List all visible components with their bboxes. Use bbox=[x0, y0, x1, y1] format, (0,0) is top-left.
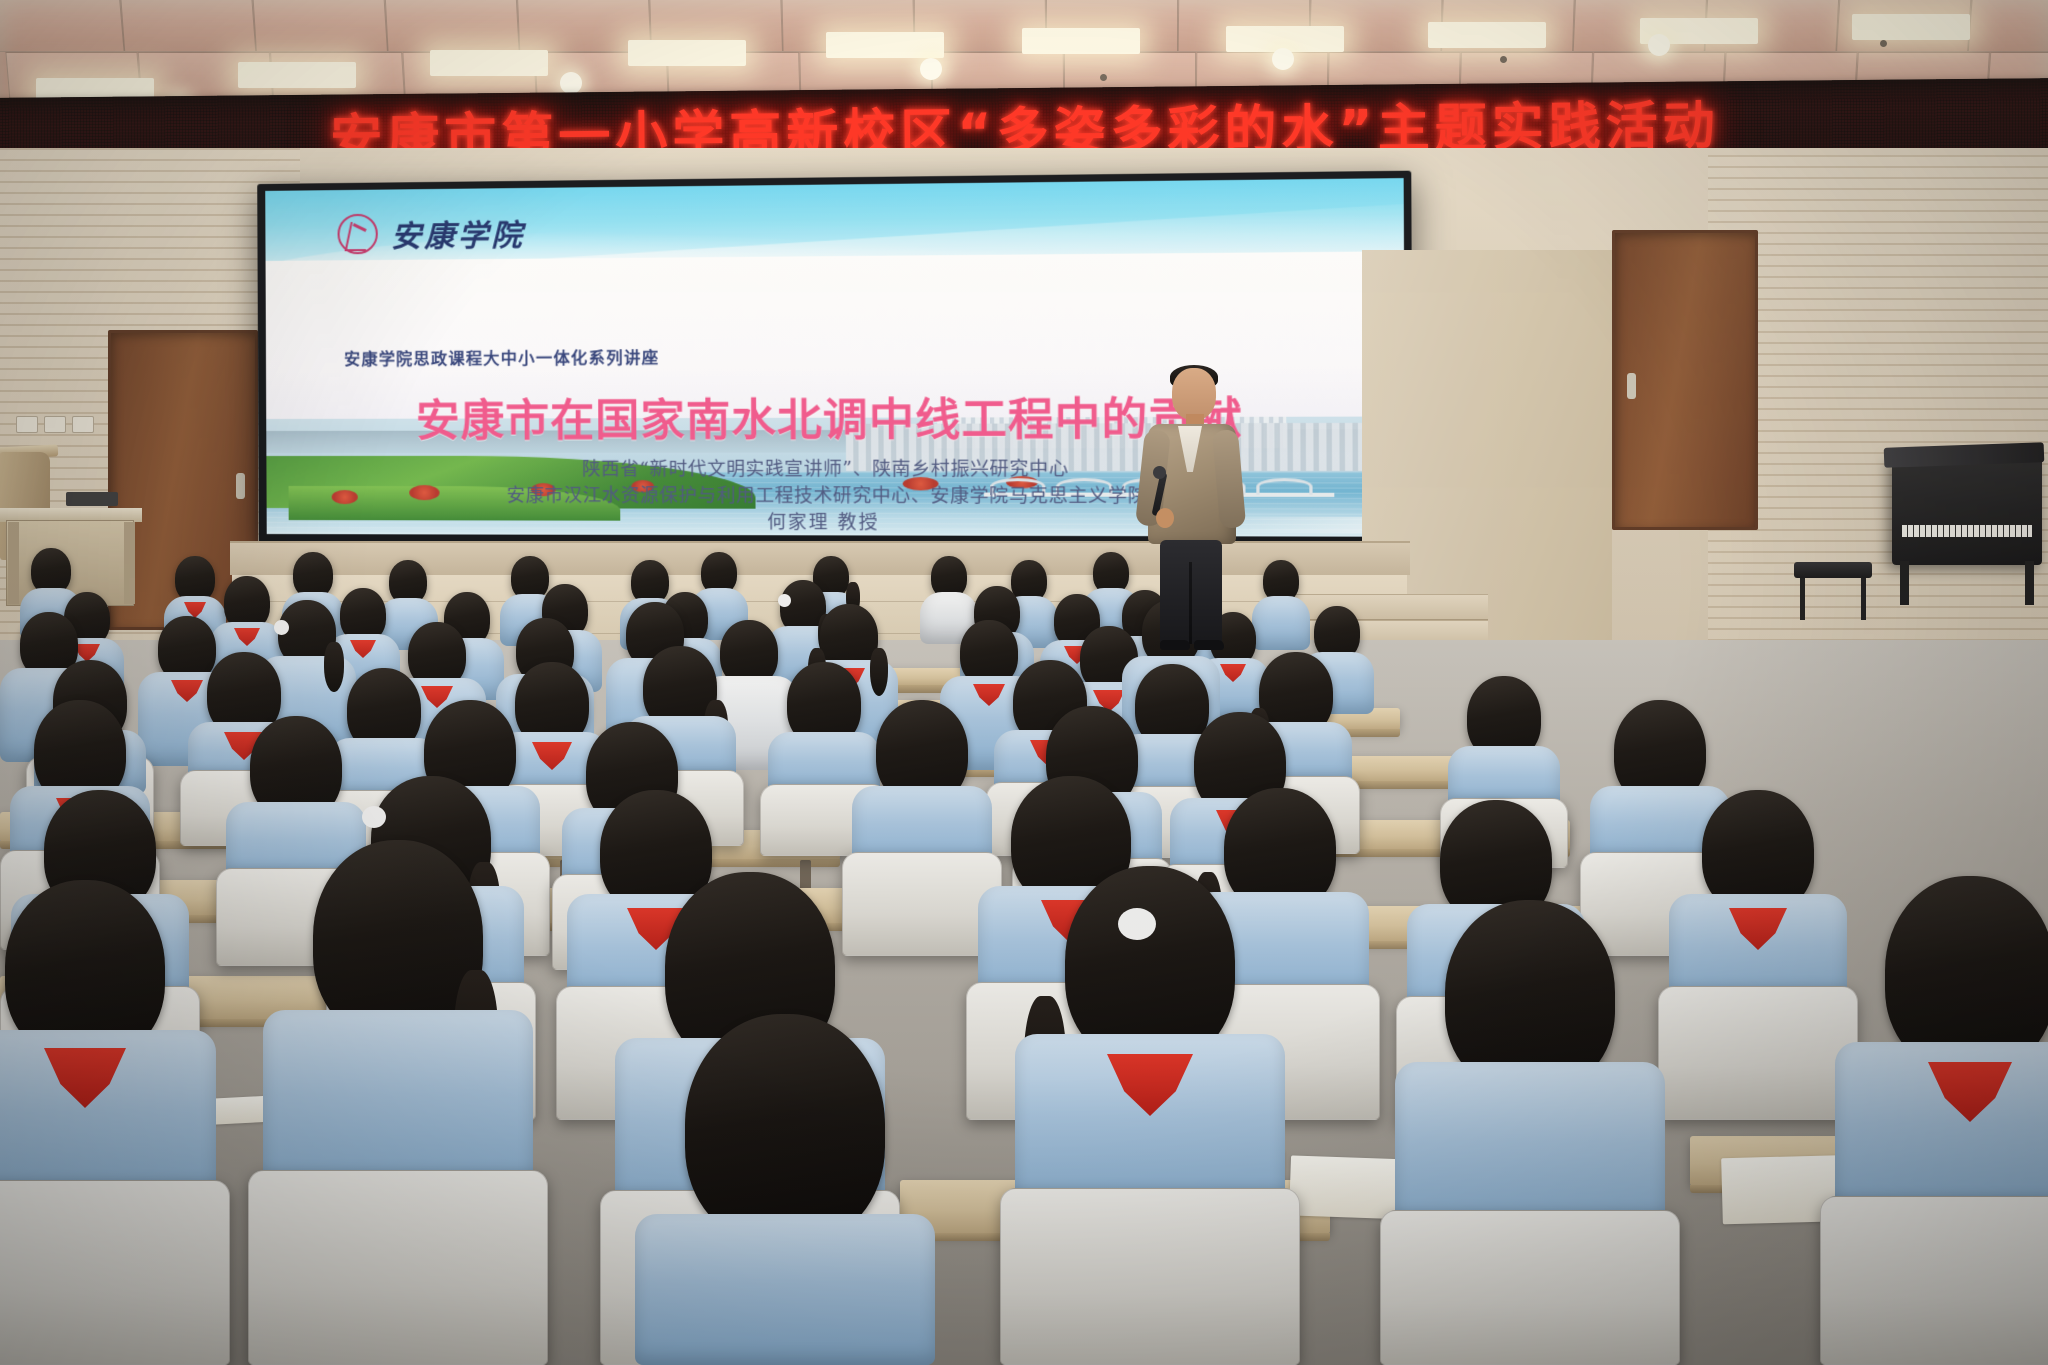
piano-bench[interactable] bbox=[1794, 562, 1872, 578]
lecture-hall-photo: 安康市第一小学高新校区“多姿多彩的水”主题实践活动 安康学院 安康学院思政课程大… bbox=[0, 0, 2048, 1365]
ceiling-light bbox=[1852, 14, 1970, 40]
ceiling-light bbox=[628, 40, 746, 66]
speaker-trousers bbox=[1160, 540, 1222, 644]
door-right[interactable] bbox=[1612, 230, 1758, 530]
microphone-head-icon bbox=[1153, 466, 1166, 479]
student-r7-1 bbox=[0, 880, 230, 1365]
sprinkler-head bbox=[1880, 40, 1887, 47]
ceiling-downlight bbox=[560, 72, 582, 94]
ankang-logo-icon bbox=[337, 214, 377, 255]
student-r7-6 bbox=[1380, 900, 1680, 1365]
ceiling-downlight bbox=[920, 58, 942, 80]
logo-text: 安康学院 bbox=[391, 210, 525, 256]
ceiling-tile bbox=[252, 0, 388, 52]
speaker-head bbox=[1172, 368, 1216, 420]
ceiling-light bbox=[826, 32, 944, 58]
piano-keys[interactable] bbox=[1902, 525, 2032, 537]
student-r7-2 bbox=[248, 840, 548, 1365]
slide-series-line: 安康学院思政课程大中小一体化系列讲座 bbox=[344, 344, 659, 370]
av-control-box[interactable] bbox=[66, 492, 118, 506]
sprinkler-head bbox=[1500, 56, 1507, 63]
piano[interactable] bbox=[1892, 455, 2042, 565]
ceiling-light bbox=[430, 50, 548, 76]
ceiling-light bbox=[238, 62, 356, 88]
student-r7-5 bbox=[1000, 866, 1300, 1365]
university-logo: 安康学院 bbox=[337, 210, 524, 256]
wall-slats-right bbox=[1708, 155, 2048, 675]
student-r7-7 bbox=[1820, 876, 2048, 1365]
ceiling-downlight bbox=[1648, 34, 1670, 56]
sprinkler-head bbox=[1100, 74, 1107, 81]
wall-switch-3[interactable] bbox=[72, 416, 94, 433]
wall-switch-1[interactable] bbox=[16, 416, 38, 433]
ceiling-tile bbox=[1968, 0, 2048, 52]
ceiling-tile bbox=[120, 0, 257, 52]
student-r7-4 bbox=[620, 1014, 950, 1365]
ceiling-tile bbox=[0, 0, 125, 52]
ceiling-light bbox=[1428, 22, 1546, 48]
ceiling-tile bbox=[384, 0, 519, 52]
ceiling-downlight bbox=[1272, 48, 1294, 70]
wall-switch-2[interactable] bbox=[44, 416, 66, 433]
speaker-person bbox=[1142, 368, 1238, 648]
ceiling-light bbox=[1022, 28, 1140, 54]
